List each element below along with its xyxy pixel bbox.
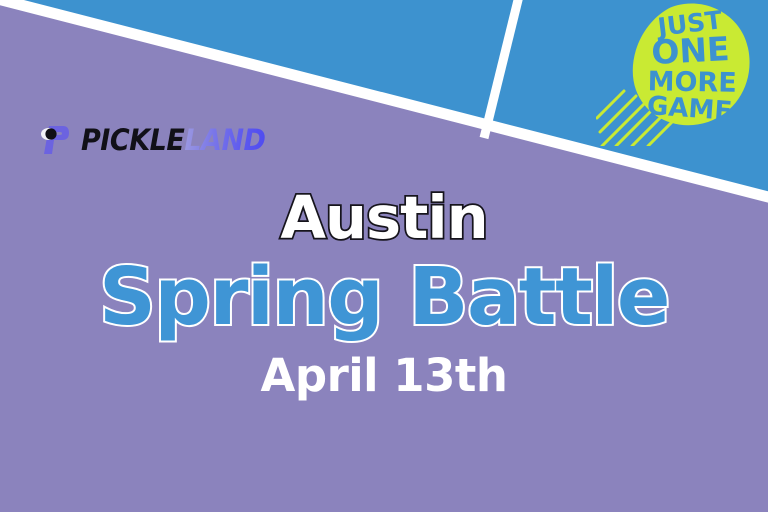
- pickleland-wordmark: PICKLELAND: [81, 126, 265, 155]
- event-name: Spring Battle: [0, 256, 768, 338]
- logo-word-pickle: PICKLE: [81, 123, 184, 157]
- event-date: April 13th: [0, 352, 768, 399]
- pickleball-p-icon: [38, 123, 72, 157]
- pickleland-logo[interactable]: PICKLELAND: [38, 120, 279, 160]
- logo-ball: [45, 128, 56, 139]
- logo-word-land: LAND: [184, 123, 265, 157]
- badge-line-4: GAME: [646, 91, 733, 127]
- event-city: Austin: [0, 188, 768, 248]
- just-one-more-game-badge[interactable]: JUST ONE MORE GAME: [596, 0, 768, 146]
- event-banner: PICKLELAND JUST ONE MORE GAME: [0, 0, 768, 512]
- headline-block: Austin Spring Battle April 13th: [0, 188, 768, 400]
